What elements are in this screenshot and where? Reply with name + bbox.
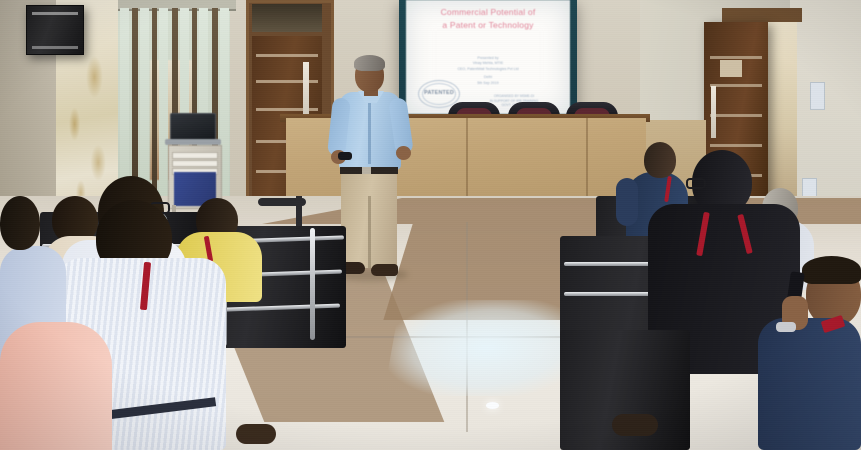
attendee-navy-head <box>644 142 676 178</box>
blind-slat <box>152 8 157 196</box>
door-right-panel-plate <box>720 60 742 77</box>
blind-slat <box>140 8 149 196</box>
slide-title: Commercial Potential of a Patent or Tech… <box>406 6 570 32</box>
blind-slat <box>120 8 129 196</box>
attendee-phone-user-hair <box>802 256 861 284</box>
attendee-phone-user-body <box>758 318 861 450</box>
shoe-foreground <box>236 424 276 444</box>
sofa-armrest-chrome <box>310 228 315 340</box>
door-right-header <box>722 8 802 22</box>
blind-slat <box>159 8 168 196</box>
presenter-shoe-right <box>371 264 398 276</box>
wristwatch <box>776 322 796 332</box>
projection-screen: Commercial Potential of a Patent or Tech… <box>406 0 570 114</box>
wall-speaker <box>26 5 84 55</box>
attendee-front-left-blue-head <box>0 196 40 250</box>
presenter-belt-buckle <box>362 167 371 174</box>
laptop-screen[interactable] <box>170 113 216 142</box>
blind-slat <box>132 8 138 196</box>
presenter-trouser-seam <box>368 196 371 268</box>
shoe-foreground <box>612 414 658 436</box>
door-left-transom <box>252 4 322 32</box>
attendee-navy-arm <box>616 178 638 226</box>
presentation-clicker[interactable] <box>338 152 352 160</box>
presenter-hair <box>354 55 385 71</box>
presenter-shirt-placket <box>368 96 371 164</box>
door-right-handle[interactable] <box>711 86 716 138</box>
presentation-room-photo: Commercial Potential of a Patent or Tech… <box>0 0 861 450</box>
presenter-hand-right <box>396 146 411 160</box>
ceiling-light-reflection <box>486 402 499 409</box>
attendee-glasses-icon <box>686 178 706 189</box>
attendee-front-left-pink <box>0 322 112 450</box>
light-switch-plate[interactable] <box>810 82 825 110</box>
